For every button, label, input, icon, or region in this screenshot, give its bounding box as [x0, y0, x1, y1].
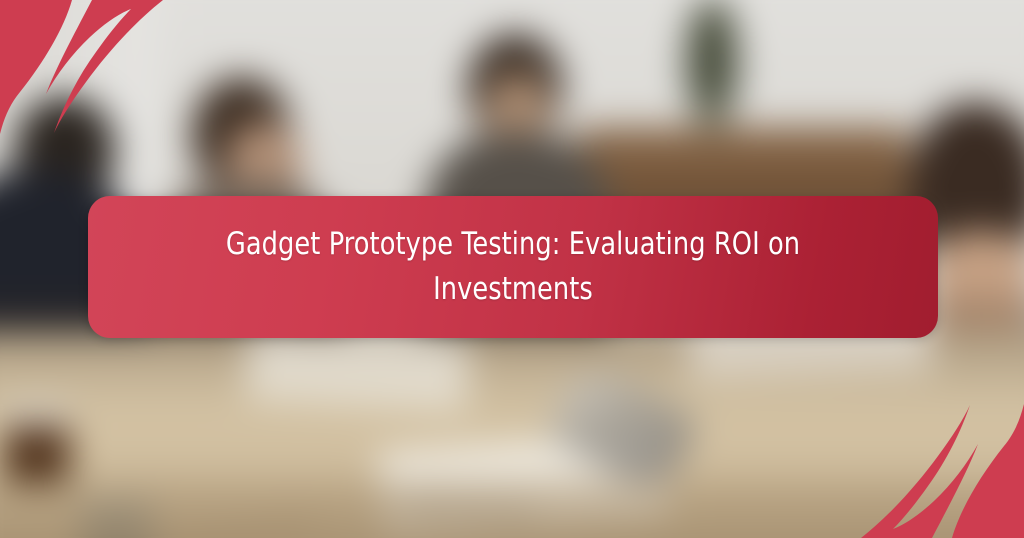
- article-header-card: Gadget Prototype Testing: Evaluating ROI…: [0, 0, 1024, 538]
- title-banner: Gadget Prototype Testing: Evaluating ROI…: [88, 196, 938, 338]
- page-title: Gadget Prototype Testing: Evaluating ROI…: [122, 222, 904, 312]
- coffee-cup: [4, 405, 70, 485]
- potted-plant: [683, 0, 740, 133]
- table-edge: [0, 479, 1024, 538]
